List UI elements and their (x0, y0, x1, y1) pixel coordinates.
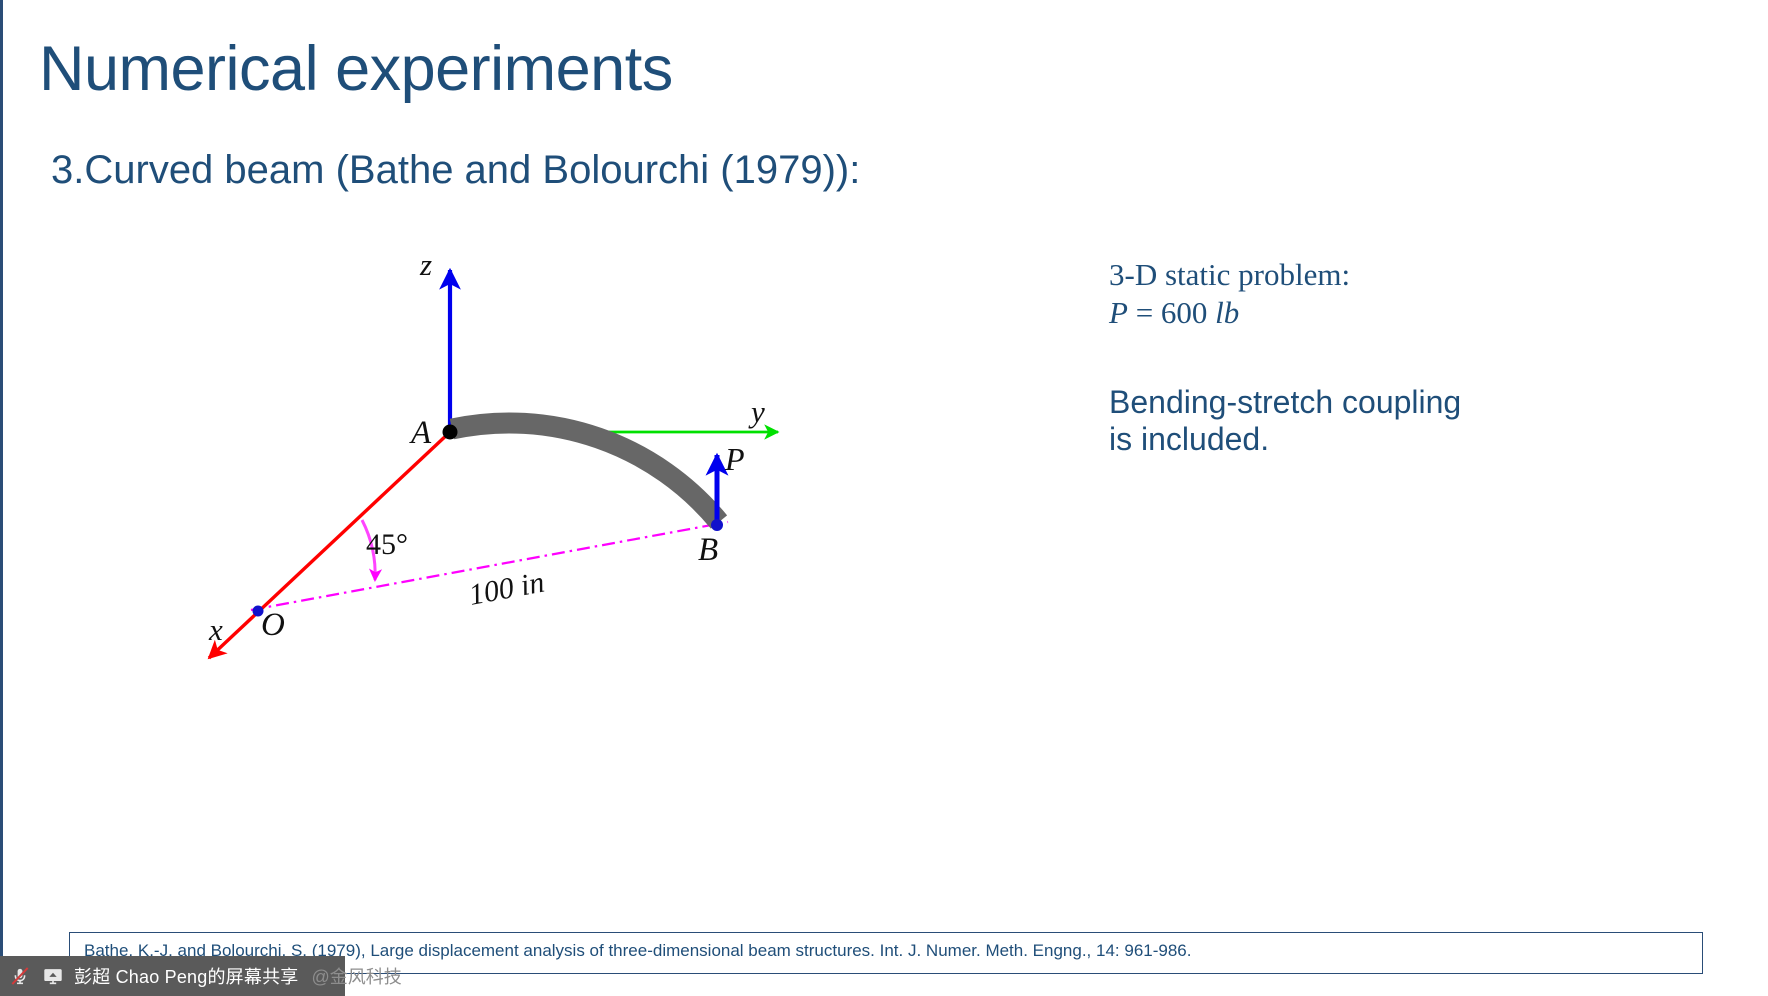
axis-label-x: x (208, 612, 223, 647)
load-label-P: P (724, 441, 745, 477)
axis-label-y: y (748, 394, 765, 429)
point-label-B: B (698, 532, 718, 568)
curved-beam-arc (452, 423, 719, 522)
screen-share-icon[interactable] (41, 964, 65, 988)
equation-symbol: P (1109, 295, 1128, 330)
node-dot-A (443, 425, 458, 440)
note-load-equation: P = 600 lb (1109, 294, 1579, 332)
page-title: Numerical experiments (39, 36, 673, 102)
radius-label: 100 in (466, 566, 547, 612)
slide-subtitle: 3.Curved beam (Bathe and Bolourchi (1979… (51, 148, 860, 193)
equation-relation: = (1128, 295, 1161, 330)
note-coupling-line1: Bending-stretch coupling (1109, 384, 1579, 422)
axis-label-z: z (419, 247, 432, 282)
screen-share-bar: 彭超 Chao Peng的屏幕共享 @金风科技 (0, 956, 345, 996)
share-owner-label: 彭超 Chao Peng的屏幕共享 (74, 963, 298, 989)
angle-label: 45° (366, 528, 408, 561)
equation-unit: lb (1215, 295, 1239, 330)
share-watermark: @金风科技 (311, 963, 401, 989)
microphone-muted-icon[interactable] (8, 964, 32, 988)
slide-canvas: Numerical experiments 3.Curved beam (Bat… (0, 0, 1768, 996)
node-dot-B (711, 519, 723, 531)
equation-value: 600 (1161, 295, 1208, 330)
note-problem-type: 3-D static problem: (1109, 256, 1579, 294)
curved-beam-3d-diagram: z y x A B O P 45° 100 in (153, 230, 953, 680)
point-label-A: A (409, 415, 432, 451)
note-coupling: Bending-stretch coupling is included. (1109, 384, 1579, 460)
point-label-O: O (261, 607, 285, 643)
note-coupling-line2: is included. (1109, 421, 1579, 459)
notes-block: 3-D static problem: P = 600 lb Bending-s… (1109, 256, 1579, 459)
x-axis-line (209, 432, 450, 658)
